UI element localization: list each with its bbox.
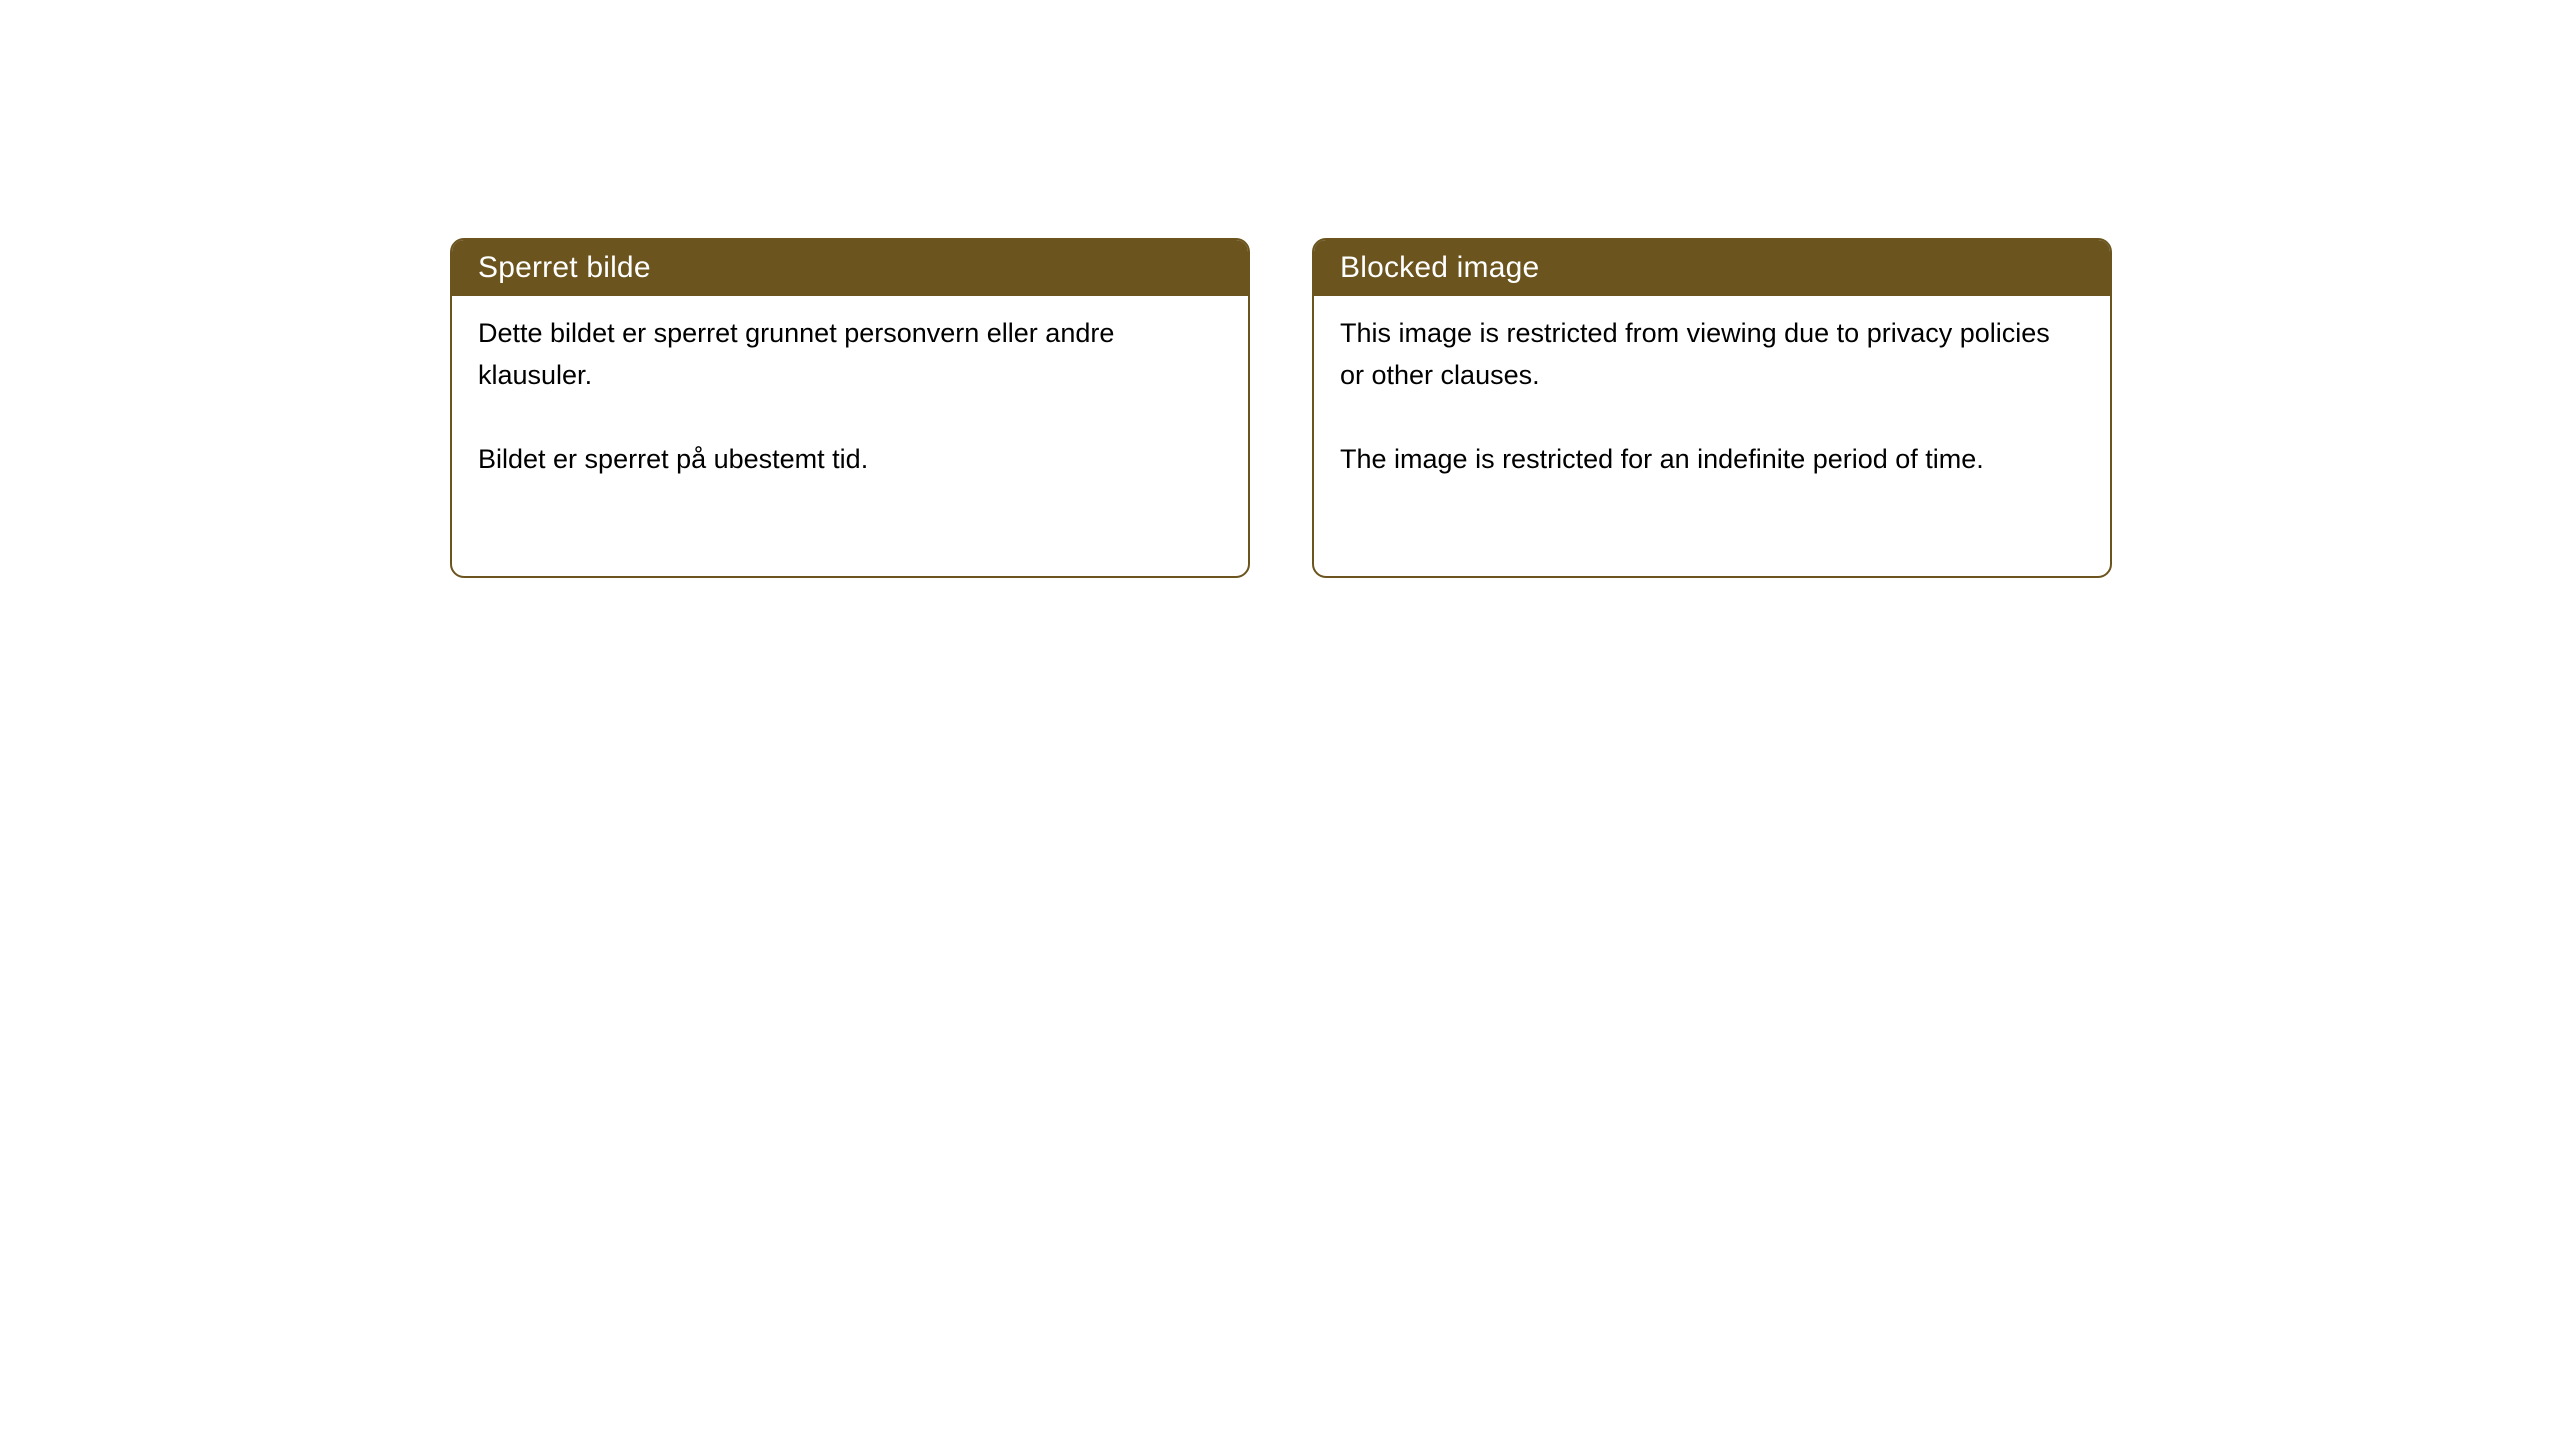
notice-title-en: Blocked image [1340,251,1539,285]
page-root: Sperret bilde Dette bildet er sperret gr… [0,0,2560,1440]
blocked-image-notice-no: Sperret bilde Dette bildet er sperret gr… [450,238,1250,578]
notice-paragraph-no-2: Bildet er sperret på ubestemt tid. [478,438,1198,480]
blocked-image-notice-en: Blocked image This image is restricted f… [1312,238,2112,578]
notice-header-en: Blocked image [1314,240,2110,296]
notice-paragraph-en-1: This image is restricted from viewing du… [1340,312,2060,396]
notice-body-en: This image is restricted from viewing du… [1314,296,2110,480]
notice-title-no: Sperret bilde [478,251,651,285]
notice-paragraph-no-1: Dette bildet er sperret grunnet personve… [478,312,1198,396]
notice-header-no: Sperret bilde [452,240,1248,296]
notice-body-no: Dette bildet er sperret grunnet personve… [452,296,1248,480]
notice-paragraph-en-2: The image is restricted for an indefinit… [1340,438,2060,480]
